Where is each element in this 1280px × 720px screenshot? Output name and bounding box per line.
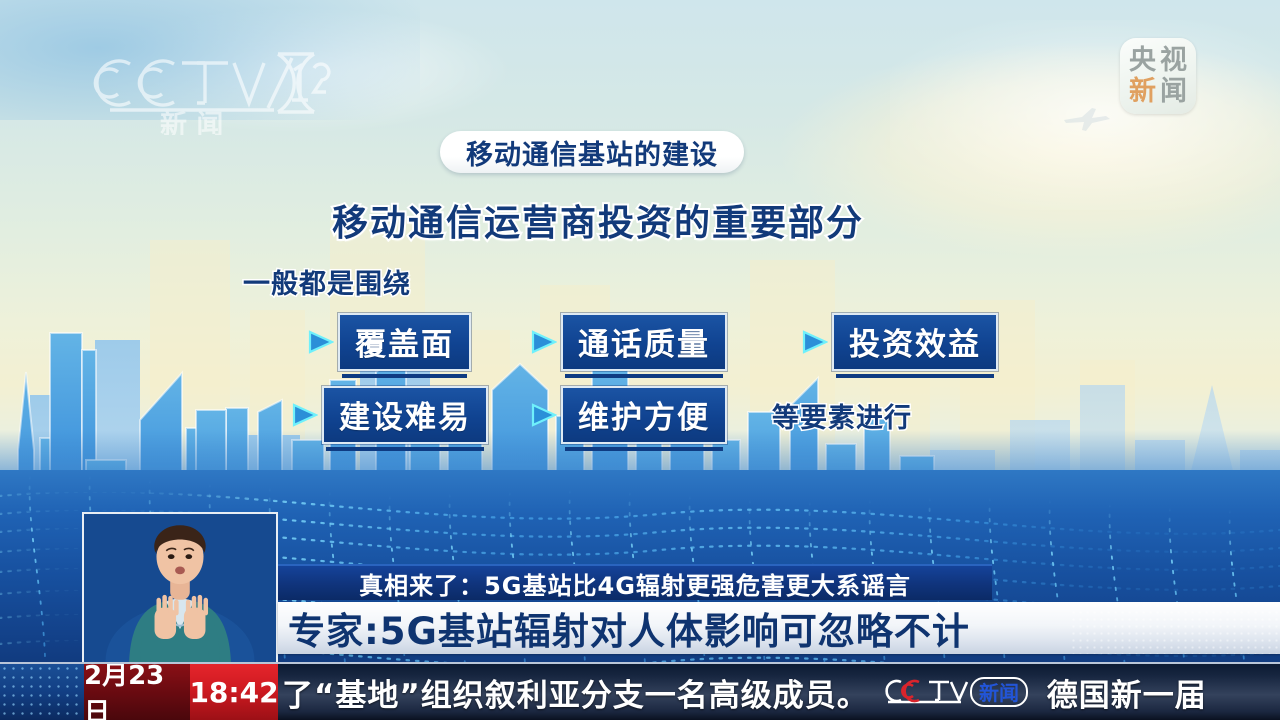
sign-language-pip <box>82 512 278 664</box>
broadcast-screen: 新 闻 央 视 新 闻 移动通信基站的建设 移动通信运营商投资的重要部分 一般都… <box>0 0 1280 720</box>
graphic-item-1: 覆盖面 <box>308 313 471 371</box>
ticker-segment-2: 德国新一届 <box>1047 670 1207 715</box>
graphic-item-label-1: 覆盖面 <box>355 327 454 363</box>
arrow-right-icon <box>292 403 318 427</box>
ticker-time: 18:42 <box>189 676 278 709</box>
graphic-item-label-4: 建设难易 <box>339 400 471 436</box>
ticker-date-badge: 2月23日 <box>84 664 190 720</box>
graphic-item-box-2: 通话质量 <box>561 313 727 371</box>
lower-third-headline: 专家:5G基站辐射对人体影响可忽略不计 <box>288 601 970 655</box>
graphic-trailing-text: 等要素进行 <box>772 396 912 435</box>
graphic-item-5: 维护方便 <box>531 386 727 444</box>
graphic-item-3: 投资效益 <box>802 313 998 371</box>
graphic-item-2: 通话质量 <box>531 313 727 371</box>
headline-dot-texture <box>1070 602 1280 654</box>
arrow-right-icon <box>802 330 828 354</box>
ticker-scroll-text: 了“基地”组织叙利亚分支一名高级成员。 新闻 <box>282 664 1207 720</box>
ticker-left-strip <box>0 664 84 720</box>
lower-third-subheadline: 真相来了：5G基站比4G辐射更强危害更大系谣言 <box>359 566 911 601</box>
graphic-item-box-5: 维护方便 <box>561 386 727 444</box>
news-ticker: 2月23日 18:42 了“基地”组织叙利亚分支一名高级成员。 <box>0 662 1280 720</box>
graphic-item-box-3: 投资效益 <box>832 313 998 371</box>
arrow-right-icon <box>308 330 334 354</box>
graphic-item-label-5: 维护方便 <box>578 400 710 436</box>
cctv-news-logo-icon: 新闻 <box>883 675 1033 709</box>
graphic-item-box-4: 建设难易 <box>322 386 488 444</box>
ticker-segment-1: 了“基地”组织叙利亚分支一名高级成员。 <box>282 670 869 715</box>
graphic-item-4: 建设难易 <box>292 386 488 444</box>
graphic-item-list: 覆盖面 通话质量 投资效益 建设难易 <box>0 0 1280 520</box>
arrow-right-icon <box>531 403 557 427</box>
graphic-item-label-3: 投资效益 <box>849 327 981 363</box>
lower-third-subheadline-bar: 真相来了：5G基站比4G辐射更强危害更大系谣言 <box>278 564 992 600</box>
graphic-item-box-1: 覆盖面 <box>338 313 471 371</box>
ticker-cctv-news-logo: 新闻 <box>883 675 1033 709</box>
ticker-brand-cn: 新闻 <box>979 681 1019 705</box>
arrow-right-icon <box>531 330 557 354</box>
interpreter-figure <box>84 514 276 662</box>
ticker-date: 2月23日 <box>84 662 190 720</box>
ticker-time-badge: 18:42 <box>190 664 278 720</box>
graphic-item-label-2: 通话质量 <box>578 327 710 363</box>
lower-third-headline-bar: 专家:5G基站辐射对人体影响可忽略不计 <box>278 602 1280 654</box>
